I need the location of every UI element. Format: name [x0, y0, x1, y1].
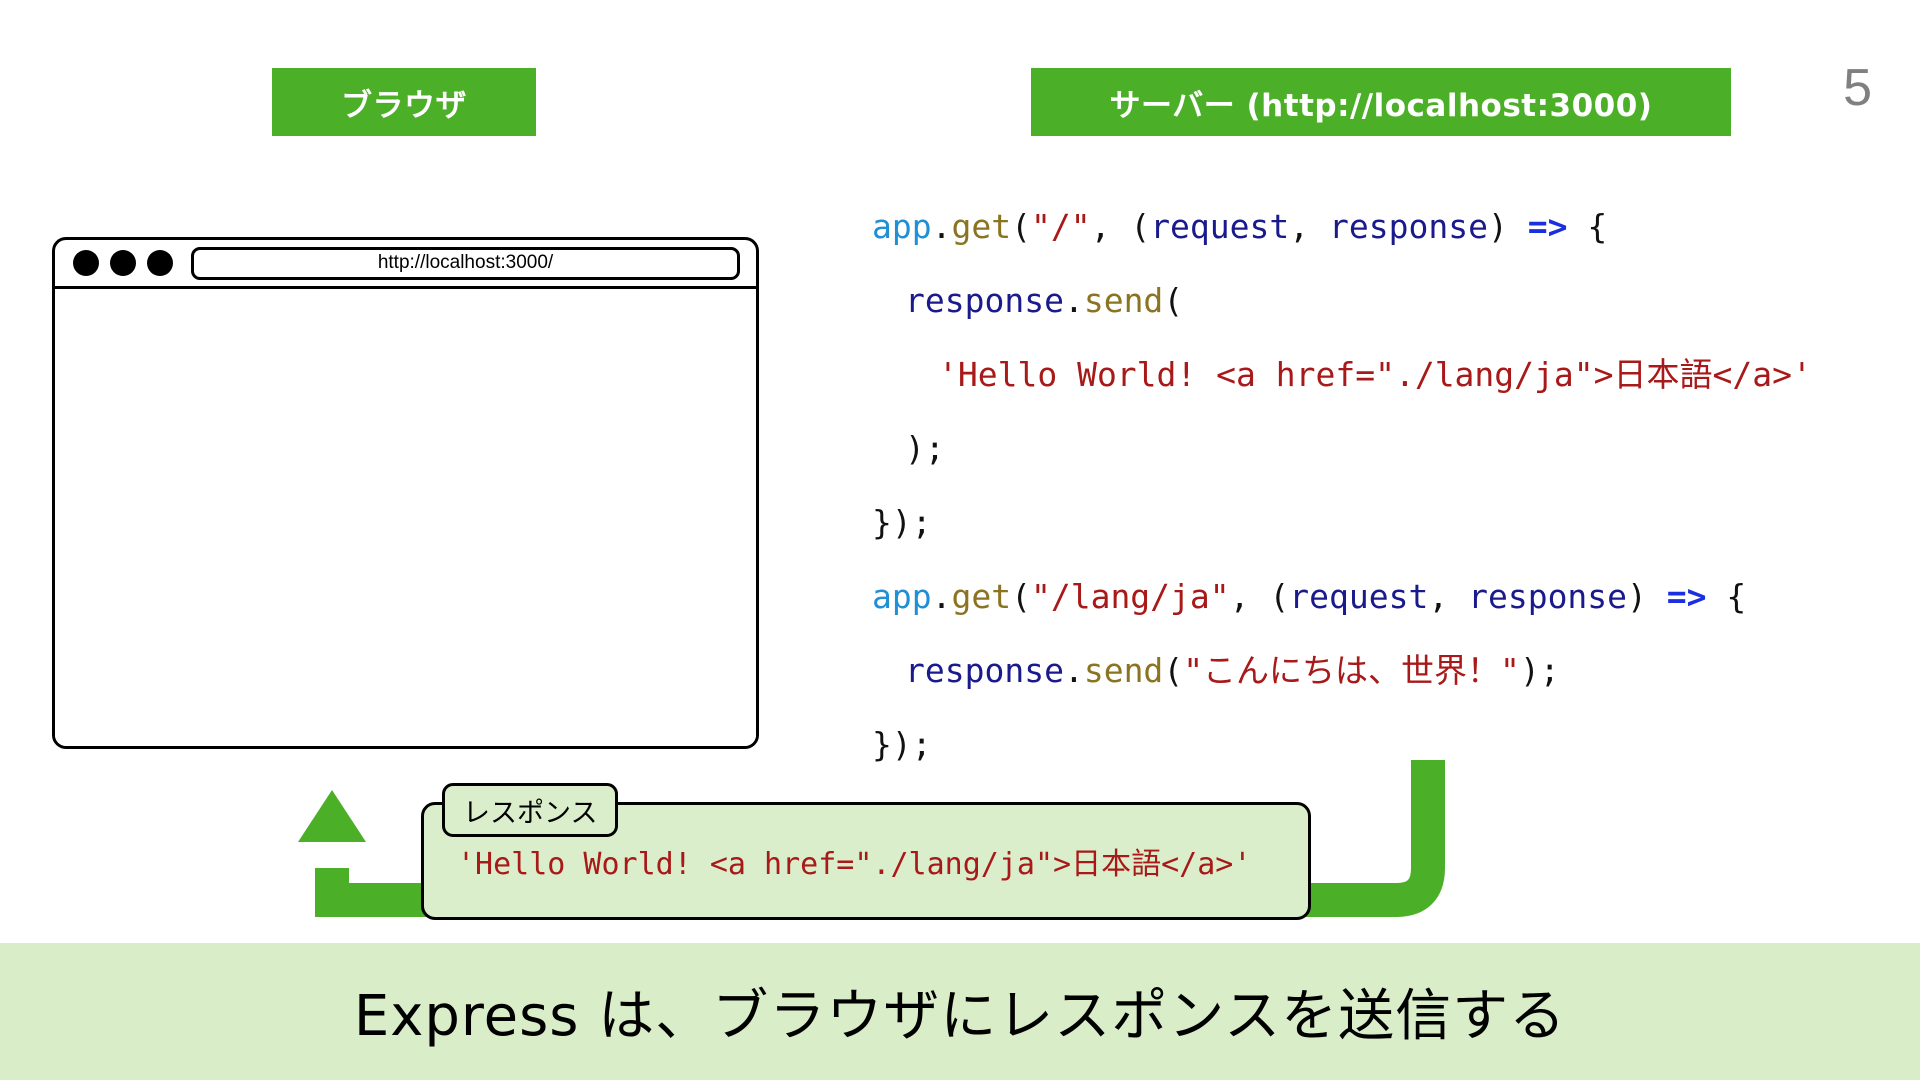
code-line: app.get("/lang/ja", (request, response) …: [872, 560, 1882, 634]
code-line: });: [872, 486, 1882, 560]
code-token-punct: (: [1011, 577, 1031, 616]
code-token-obj: app: [872, 577, 932, 616]
code-token-param: request: [1289, 577, 1428, 616]
code-token-punct: (: [1163, 651, 1183, 690]
badge-browser-label: ブラウザ: [341, 80, 467, 125]
response-body-text: 'Hello World! <a href="./lang/ja">日本語</a…: [424, 839, 1251, 883]
badge-browser: ブラウザ: [272, 68, 536, 136]
code-token-punct: ): [1627, 577, 1667, 616]
window-dot-icon-3: [147, 250, 173, 276]
code-token-param: response: [905, 651, 1064, 690]
code-token-punct: {: [1567, 207, 1607, 246]
code-token-punct: });: [872, 725, 932, 764]
slide-canvas: 5 ブラウザ サーバー (http://localhost:3000) http…: [0, 0, 1920, 1080]
code-token-punct: .: [1064, 651, 1084, 690]
browser-window-mockup: http://localhost:3000/: [52, 237, 759, 749]
code-token-method: get: [951, 207, 1011, 246]
code-token-punct: );: [905, 429, 945, 468]
code-token-punct: ): [1488, 207, 1528, 246]
code-token-method: send: [1084, 651, 1163, 690]
code-token-punct: .: [932, 577, 952, 616]
code-token-str: "/lang/ja": [1031, 577, 1230, 616]
browser-chrome-bar: http://localhost:3000/: [55, 240, 756, 289]
window-dot-icon-2: [110, 250, 136, 276]
code-token-punct: ,: [1289, 207, 1329, 246]
response-label-badge: レスポンス: [442, 783, 618, 837]
window-dot-icon-1: [73, 250, 99, 276]
code-token-str: "/": [1031, 207, 1091, 246]
response-label-text: レスポンス: [463, 791, 597, 830]
code-line: response.send("こんにちは、世界！");: [872, 634, 1882, 708]
badge-server: サーバー (http://localhost:3000): [1031, 68, 1731, 136]
code-token-param: response: [1468, 577, 1627, 616]
code-token-param: response: [905, 281, 1064, 320]
server-code-block: app.get("/", (request, response) => {res…: [872, 190, 1882, 782]
code-token-punct: .: [932, 207, 952, 246]
code-token-punct: , (: [1230, 577, 1290, 616]
url-bar[interactable]: http://localhost:3000/: [191, 247, 740, 280]
caption-text: Express は、ブラウザにレスポンスを送信する: [354, 971, 1566, 1052]
page-number: 5: [1843, 62, 1872, 114]
code-line: response.send(: [872, 264, 1882, 338]
code-token-arrow: =>: [1528, 207, 1568, 246]
code-token-punct: {: [1707, 577, 1747, 616]
code-token-arrow: =>: [1667, 577, 1707, 616]
browser-viewport: [55, 289, 756, 749]
code-token-punct: .: [1064, 281, 1084, 320]
code-token-punct: (: [1163, 281, 1183, 320]
code-token-punct: ,: [1428, 577, 1468, 616]
code-token-method: get: [951, 577, 1011, 616]
code-token-str: 'Hello World! <a href="./lang/ja">日本語</a…: [938, 355, 1812, 394]
code-token-param: response: [1329, 207, 1488, 246]
code-line: app.get("/", (request, response) => {: [872, 190, 1882, 264]
code-token-str: "こんにちは、世界！": [1183, 651, 1520, 690]
code-line: 'Hello World! <a href="./lang/ja">日本語</a…: [872, 338, 1882, 412]
code-token-punct: );: [1520, 651, 1560, 690]
code-token-param: request: [1150, 207, 1289, 246]
code-token-obj: app: [872, 207, 932, 246]
code-token-method: send: [1084, 281, 1163, 320]
code-token-punct: });: [872, 503, 932, 542]
code-token-punct: , (: [1091, 207, 1151, 246]
window-control-dots: [73, 250, 173, 276]
code-token-punct: (: [1011, 207, 1031, 246]
caption-bar: Express は、ブラウザにレスポンスを送信する: [0, 943, 1920, 1080]
code-line: );: [872, 412, 1882, 486]
badge-server-label: サーバー (http://localhost:3000): [1110, 80, 1653, 125]
url-text: http://localhost:3000/: [378, 252, 553, 274]
